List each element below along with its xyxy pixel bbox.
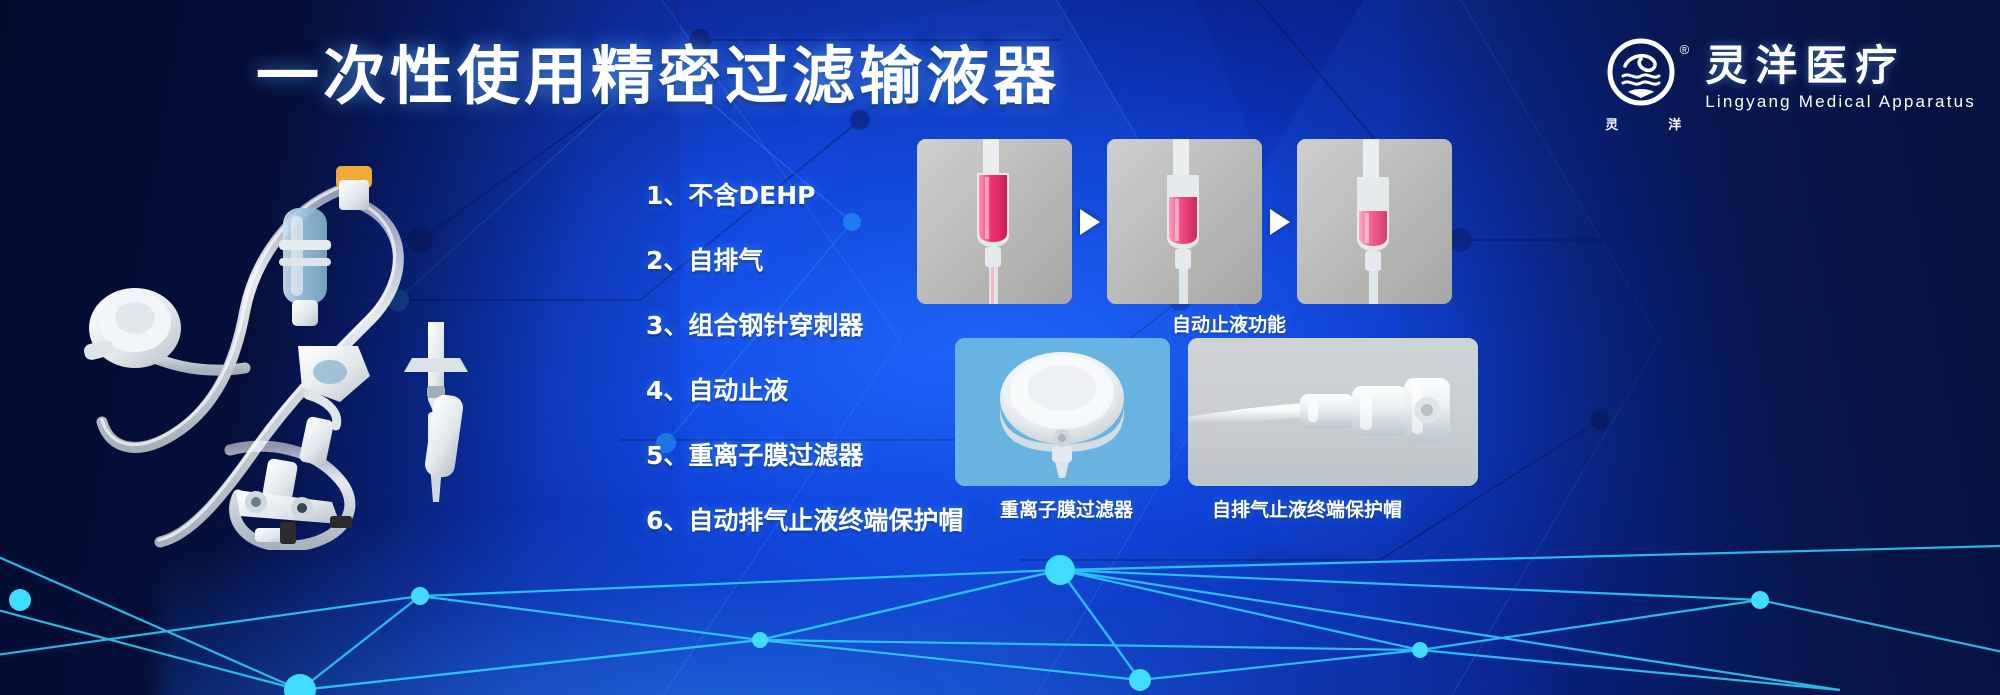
caption-auto-stop-function: 自动止液功能 <box>1172 310 1286 337</box>
product-banner: 一次性使用精密过滤输液器 ® 灵 洋 灵洋医疗 Lingyang Medical… <box>0 0 2000 695</box>
brand-name-cn: 灵洋医疗 <box>1705 44 1976 88</box>
banner-title: 一次性使用精密过滤输液器 <box>256 45 1060 108</box>
registered-trademark-icon: ® <box>1680 42 1690 57</box>
drip-chamber <box>279 208 331 326</box>
membrane-filter-device <box>83 288 181 368</box>
caption-auto-exhaust-stop-terminal-cap: 自排气止液终端保护帽 <box>1212 495 1402 522</box>
emblem-caption-right: 洋 <box>1668 114 1681 133</box>
infusion-spike <box>336 166 372 210</box>
demo-frame-2 <box>1107 139 1262 304</box>
photo-heavy-ion-membrane-filter <box>955 338 1170 486</box>
feature-item-2: 2、自排气 <box>646 241 963 277</box>
brand-name-en: Lingyang Medical Apparatus <box>1705 92 1976 112</box>
emblem-caption-left: 灵 <box>1605 114 1618 133</box>
auto-stop-demo-sequence <box>917 139 1452 304</box>
lingyang-emblem-icon: ® 灵 洋 <box>1601 36 1685 120</box>
demo-frame-3 <box>1297 139 1452 304</box>
demo-arrow-2-3 <box>1262 209 1297 235</box>
product-photo-infusion-set <box>40 150 640 550</box>
roller-clamp <box>298 346 370 426</box>
arrow-right-icon <box>1270 209 1290 235</box>
brand-text: 灵洋医疗 Lingyang Medical Apparatus <box>1705 44 1976 111</box>
brand-logo: ® 灵 洋 灵洋医疗 Lingyang Medical Apparatus <box>1601 36 1976 120</box>
demo-arrow-1-2 <box>1072 209 1107 235</box>
demo-frame-1 <box>917 139 1072 304</box>
feature-item-3: 3、组合钢针穿刺器 <box>646 306 963 342</box>
feature-item-4: 4、自动止液 <box>646 371 963 407</box>
feature-list: 1、不含DEHP 2、自排气 3、组合钢针穿刺器 4、自动止液 5、重离子膜过滤… <box>646 176 963 537</box>
feature-item-6: 6、自动排气止液终端保护帽 <box>646 501 963 537</box>
feature-item-1: 1、不含DEHP <box>646 176 963 212</box>
emblem-caption: 灵 洋 <box>1601 114 1685 133</box>
terminal-protective-cap <box>423 393 464 478</box>
caption-heavy-ion-membrane-filter: 重离子膜过滤器 <box>1000 495 1133 522</box>
arrow-right-icon <box>1080 209 1100 235</box>
photo-auto-exhaust-stop-terminal-cap <box>1188 338 1478 486</box>
feature-item-5: 5、重离子膜过滤器 <box>646 436 963 472</box>
